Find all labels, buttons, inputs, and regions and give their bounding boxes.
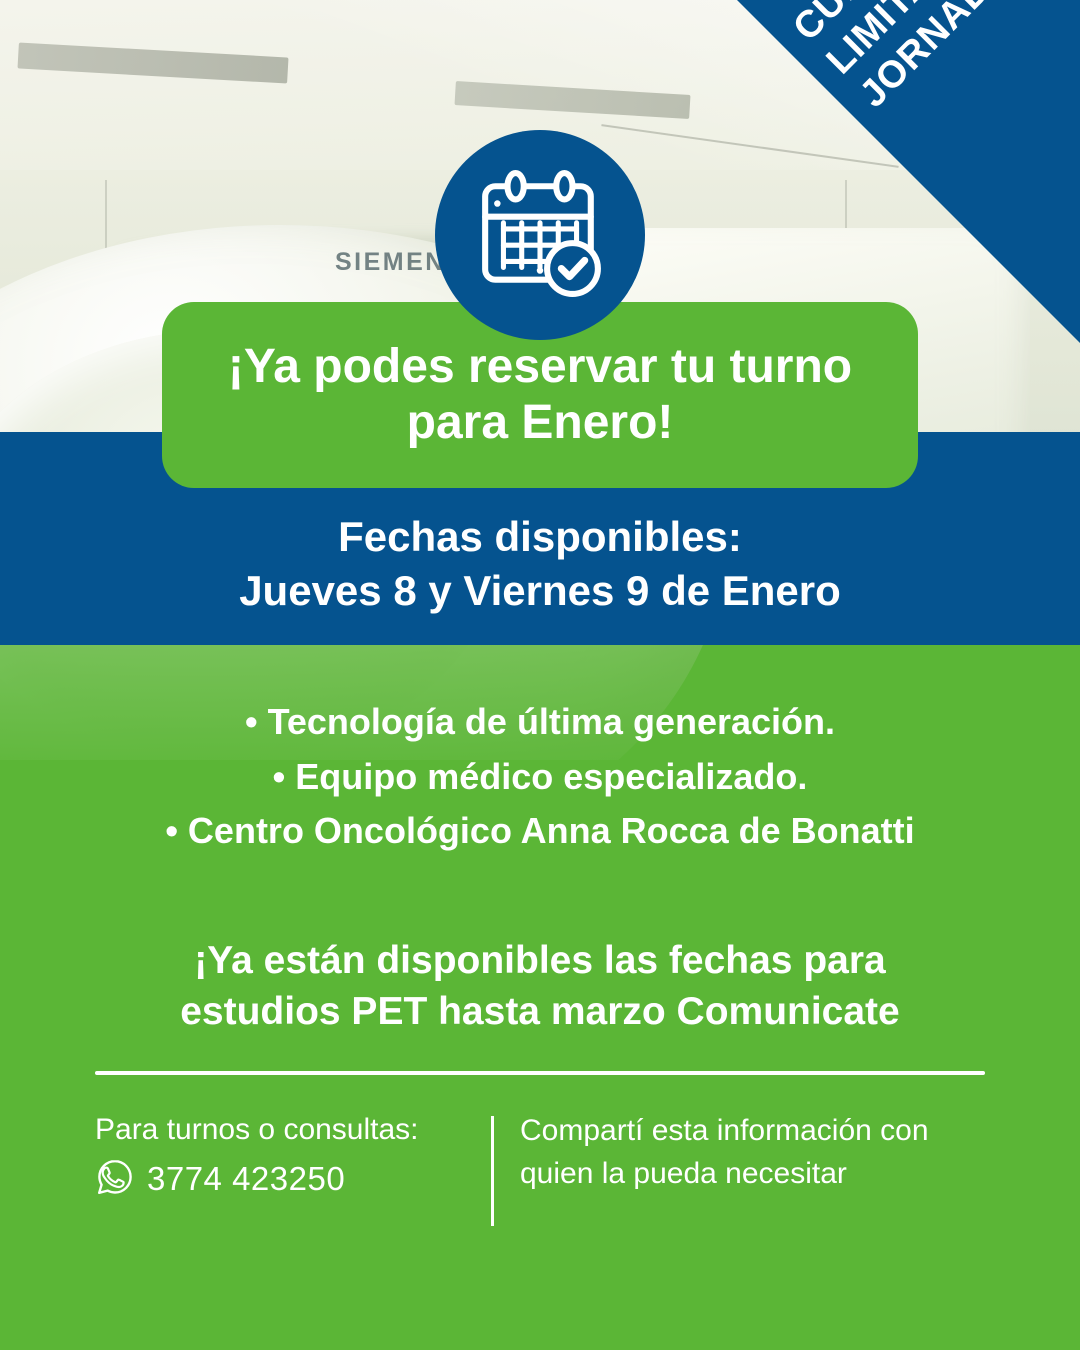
whatsapp-contact[interactable]: 3774 423250 bbox=[95, 1157, 475, 1202]
phone-number[interactable]: 3774 423250 bbox=[147, 1160, 345, 1198]
horizontal-divider bbox=[95, 1071, 985, 1075]
list-item: • Tecnología de última generación. bbox=[0, 695, 1080, 750]
contact-label: Para turnos o consultas: bbox=[95, 1110, 475, 1151]
footer: Para turnos o consultas: 3774 423250 Com… bbox=[0, 1110, 1080, 1240]
headline-text: ¡Ya podes reservar tu turno para Enero! bbox=[202, 339, 878, 451]
list-item: • Equipo médico especializado. bbox=[0, 750, 1080, 805]
headline-line-1: ¡Ya podes reservar tu turno bbox=[228, 339, 852, 395]
promo-poster: SIEMENS Fechas disponibles: Jueves 8 y V… bbox=[0, 0, 1080, 1350]
dates-line-2: Jueves 8 y Viernes 9 de Enero bbox=[0, 564, 1080, 618]
dates-line-1: Fechas disponibles: bbox=[0, 510, 1080, 564]
share-line-1: Compartí esta información con bbox=[520, 1110, 1020, 1153]
whatsapp-icon[interactable] bbox=[95, 1157, 135, 1202]
share-message: Compartí esta información con quien la p… bbox=[520, 1110, 1020, 1195]
pet-line-2: estudios PET hasta marzo Comunicate bbox=[0, 987, 1080, 1038]
dates-band-text: Fechas disponibles: Jueves 8 y Viernes 9… bbox=[0, 510, 1080, 618]
pet-line-1: ¡Ya están disponibles las fechas para bbox=[0, 936, 1080, 987]
headline-line-2: para Enero! bbox=[228, 395, 852, 451]
calendar-check-icon bbox=[435, 130, 645, 340]
feature-bullet-list: • Tecnología de última generación. • Equ… bbox=[0, 695, 1080, 859]
contact-block: Para turnos o consultas: 3774 423250 bbox=[95, 1110, 475, 1202]
list-item: • Centro Oncológico Anna Rocca de Bonatt… bbox=[0, 804, 1080, 859]
pet-availability-notice: ¡Ya están disponibles las fechas para es… bbox=[0, 936, 1080, 1037]
share-line-2: quien la pueda necesitar bbox=[520, 1153, 1020, 1196]
vertical-divider bbox=[491, 1116, 494, 1226]
